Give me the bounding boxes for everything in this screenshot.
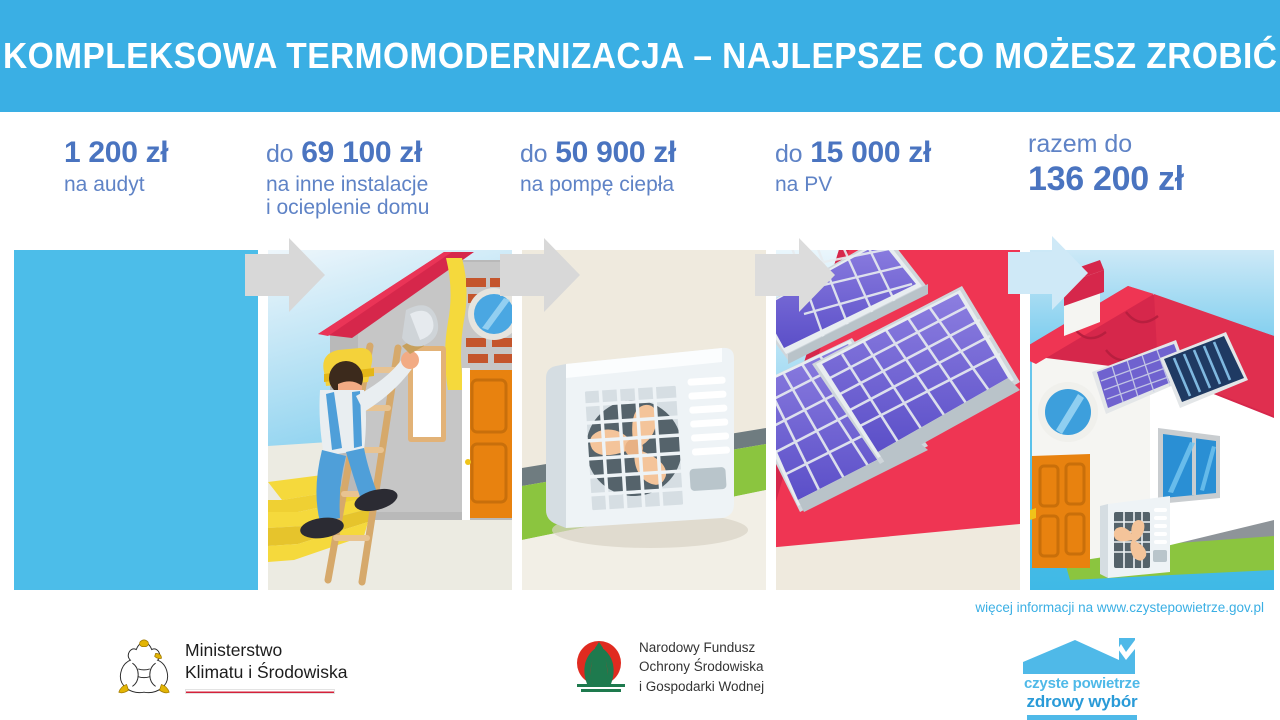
caption-step-pv: do 15 000 zł na PV (775, 136, 931, 196)
header-banner: KOMPLEKSOWA TERMOMODERNIZACJA – NAJLEPSZ… (0, 0, 1280, 112)
total-lead-label: razem do (1028, 130, 1184, 158)
logo-nf-line3: i Gospodarki Wodnej (639, 677, 764, 696)
illustration-panels (0, 250, 1280, 590)
amount-value-audyt: 1 200 zł (64, 136, 168, 169)
caption-step-audyt: 1 200 zł na audyt (64, 136, 168, 196)
amount-prefix-instalacje: do (266, 140, 293, 168)
progress-arrow-4 (1008, 236, 1088, 310)
amount-pv: do 15 000 zł (775, 136, 931, 170)
captions-row: 1 200 zł na audyt do 69 100 zł na inne i… (0, 112, 1280, 250)
amount-value-instalacje: 69 100 zł (301, 136, 422, 169)
amount-pompa-ciepla: do 50 900 zł (520, 136, 676, 170)
logo-nfosigw: Narodowy Fundusz Ochrony Środowiska i Go… (572, 638, 764, 696)
more-info-link[interactable]: więcej informacji na www.czystepowietrze… (975, 600, 1264, 615)
caption-label-pv: na PV (775, 173, 931, 197)
logo-mk-line1: Ministerstwo (185, 640, 347, 661)
logo-nf-line2: Ochrony Środowiska (639, 657, 764, 676)
logo-cp-line2: zdrowy wybór (1012, 692, 1152, 712)
amount-prefix-pv: do (775, 140, 802, 168)
logo-cp-line1: czyste powietrze (1012, 675, 1152, 692)
caption-step-pompa-ciepla: do 50 900 zł na pompę ciepła (520, 136, 676, 196)
polish-eagle-icon (113, 636, 175, 698)
house-roof-check-icon (1023, 638, 1141, 674)
logo-nf-line1: Narodowy Fundusz (639, 638, 764, 657)
logo-cp-underline (1027, 715, 1137, 720)
amount-value-pompa: 50 900 zł (555, 136, 676, 169)
logo-mk-line2: Klimatu i Środowiska (185, 662, 347, 683)
progress-arrow-3 (755, 238, 835, 312)
polish-flag-bar (185, 689, 335, 694)
caption-label-instalacje-2: i ocieplenie domu (266, 196, 429, 220)
amount-audyt: 1 200 zł (64, 136, 168, 170)
logos-row: Ministerstwo Klimatu i Środowiska Narodo… (0, 620, 1280, 720)
caption-label-audyt: na audyt (64, 173, 168, 197)
amount-value-pv: 15 000 zł (810, 136, 931, 169)
caption-label-instalacje-1: na inne instalacje (266, 173, 429, 197)
progress-arrow-1 (245, 238, 325, 312)
panel-thermal-camera-audit (14, 250, 258, 590)
amount-instalacje: do 69 100 zł (266, 136, 429, 170)
amount-prefix-pompa: do (520, 140, 547, 168)
progress-arrow-2 (500, 238, 580, 312)
logo-ministerstwo-klimatu: Ministerstwo Klimatu i Środowiska (113, 636, 347, 698)
sky-background (14, 250, 258, 590)
nfosigw-tree-icon (572, 638, 630, 696)
caption-total: razem do 136 200 zł (1028, 130, 1184, 198)
caption-step-instalacje: do 69 100 zł na inne instalacje i ociepl… (266, 136, 429, 220)
total-amount: 136 200 zł (1028, 160, 1184, 198)
caption-label-pompa: na pompę ciepła (520, 173, 676, 197)
logo-czyste-powietrze: czyste powietrze zdrowy wybór (1012, 638, 1152, 720)
page-title: KOMPLEKSOWA TERMOMODERNIZACJA – NAJLEPSZ… (3, 35, 1277, 77)
